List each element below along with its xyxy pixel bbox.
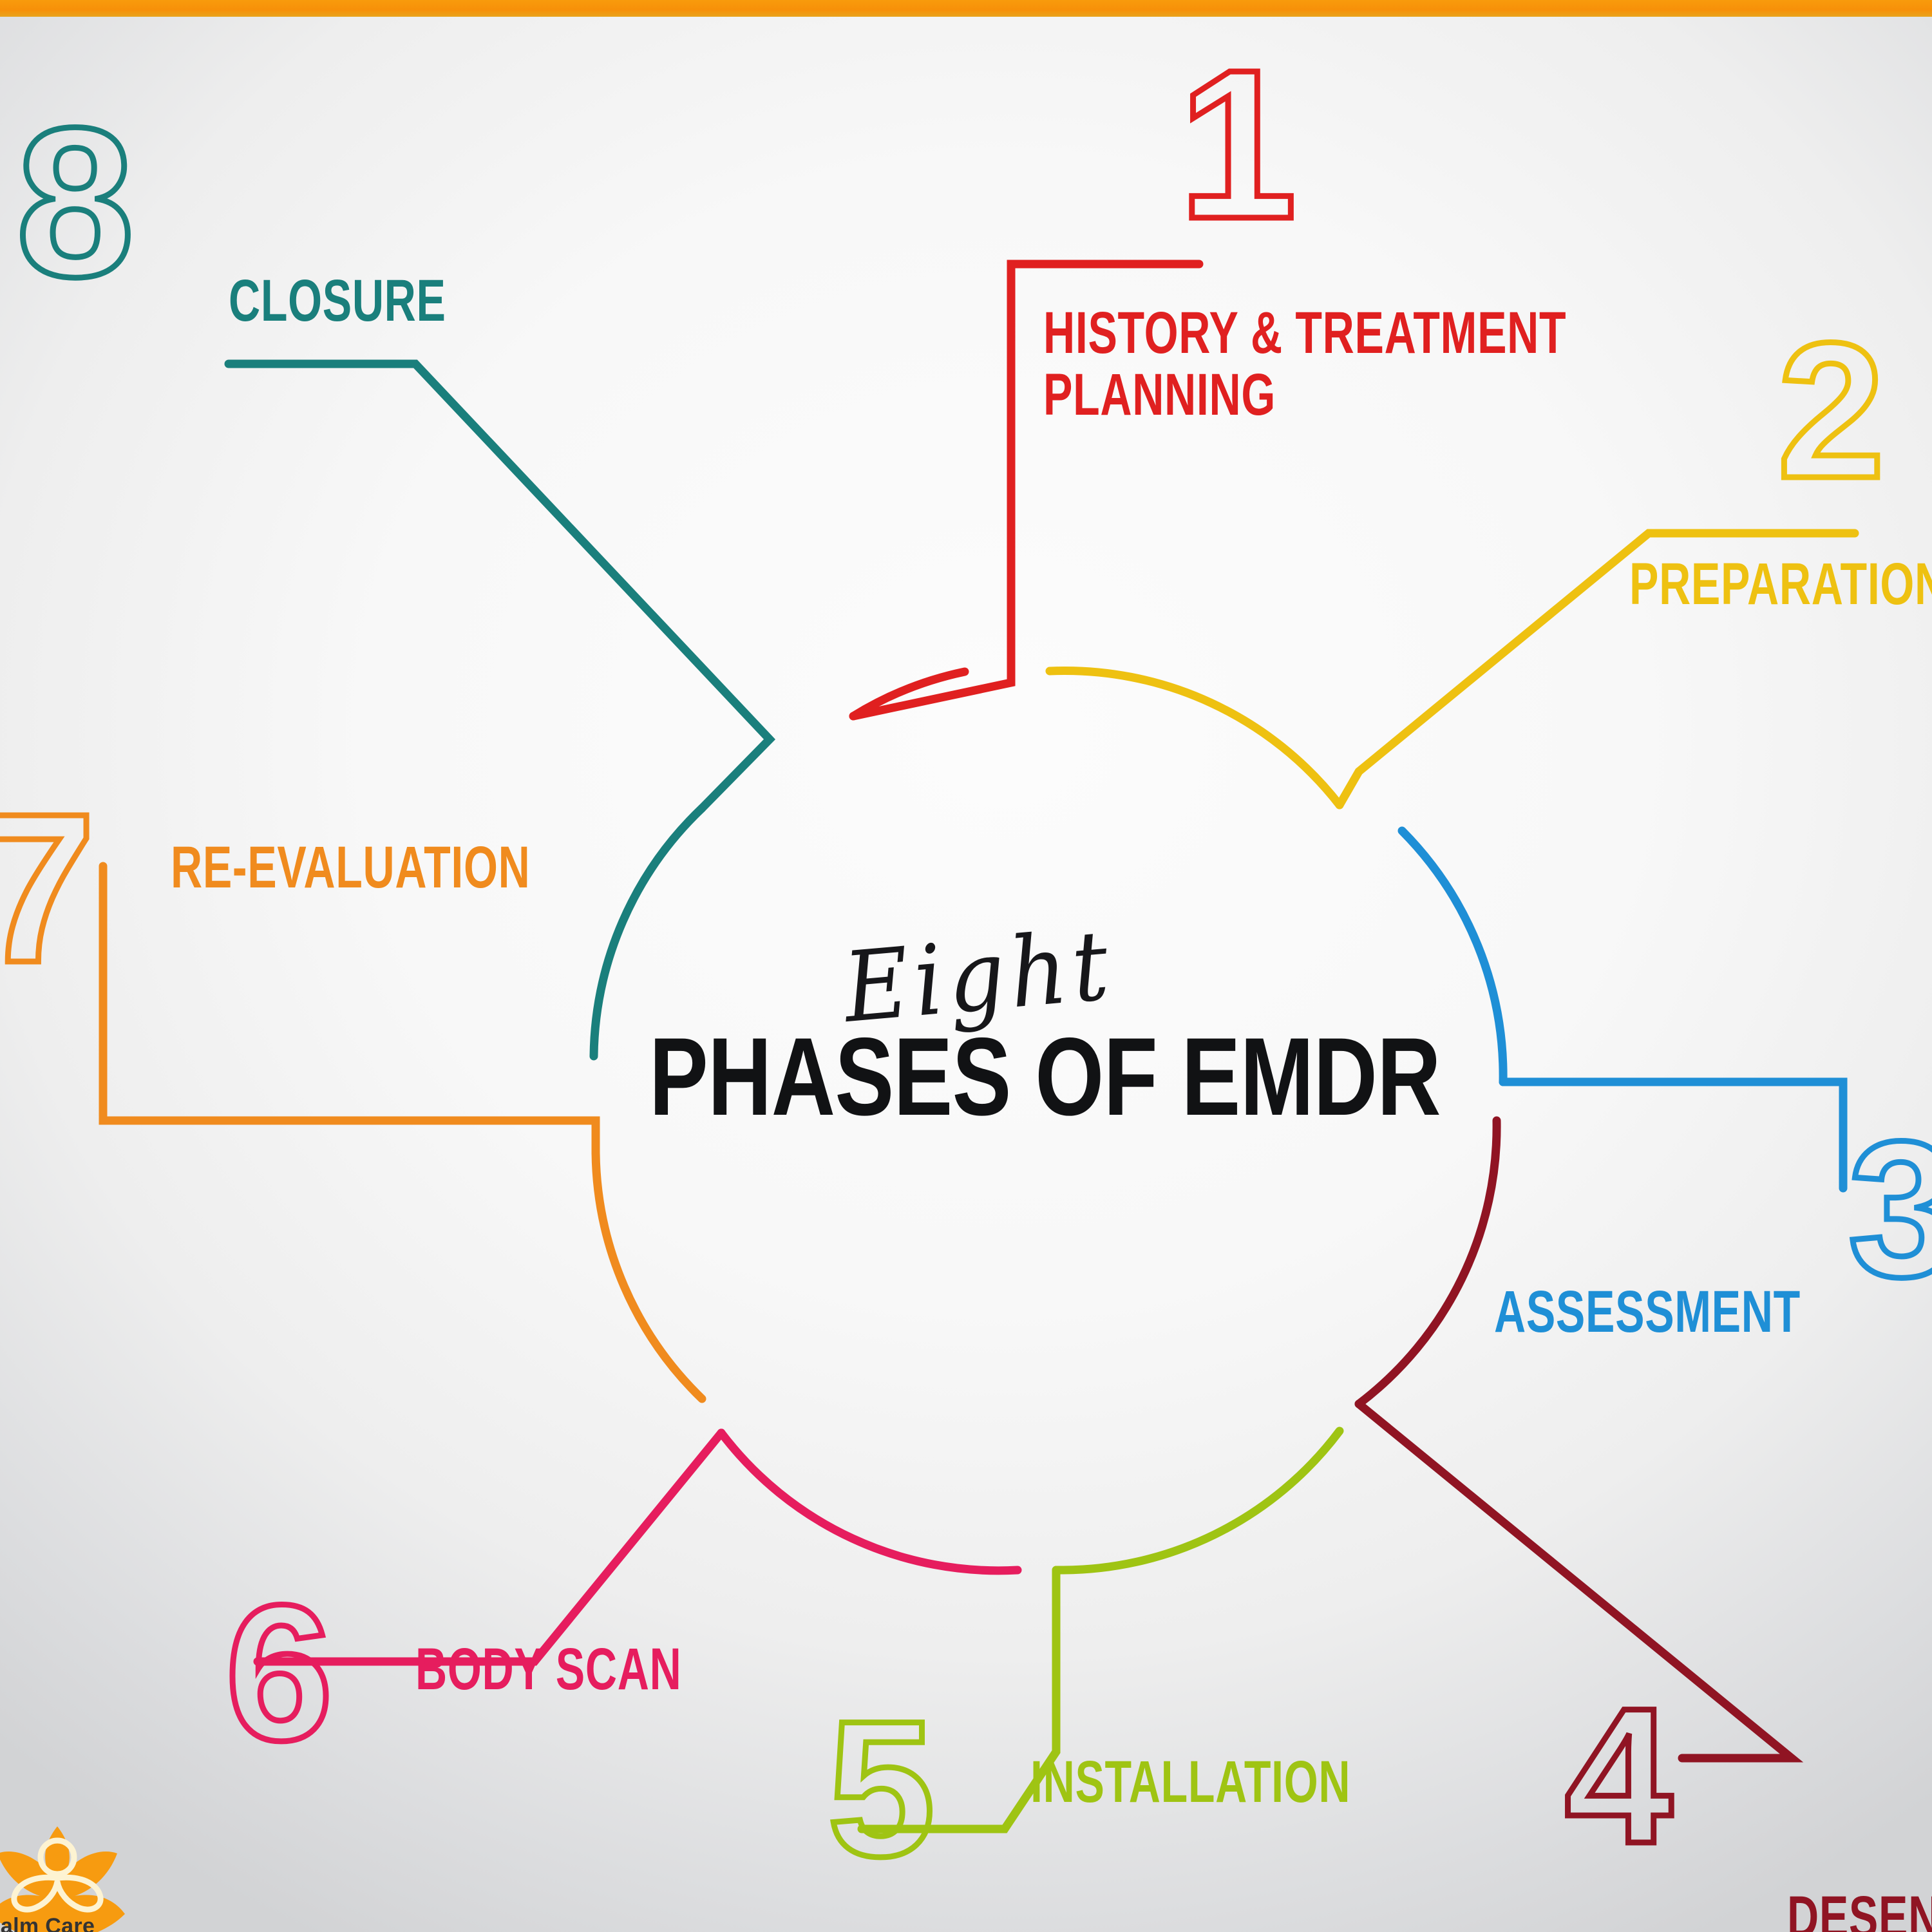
phase-4-numeral: 4: [1565, 1700, 1669, 1851]
phase-7-connector: [103, 866, 596, 1153]
phase-1-label: HISTORY & TREATMENTPLANNING: [1043, 303, 1566, 426]
phase-2-label: PREPARATION: [1629, 554, 1932, 616]
infographic-canvas: 1HISTORY & TREATMENTPLANNING2PREPARATION…: [0, 0, 1932, 1932]
phase-7-label: RE-EVALUATION: [171, 837, 531, 899]
phase-4-arc: [1359, 1121, 1497, 1404]
phase-2-numeral: 2: [1777, 335, 1881, 486]
phase-8-label: CLOSURE: [229, 270, 446, 332]
phase-label-line: CLOSURE: [229, 268, 446, 334]
phase-label-line: DESENSITIZATION: [1787, 1884, 1932, 1932]
phase-5-arc: [1056, 1431, 1340, 1570]
center-title-text: PHASES OF EMDR: [649, 1013, 1309, 1141]
phase-7-arc: [596, 1153, 702, 1399]
logo-wordmark: Calm Care: [0, 1914, 152, 1932]
phase-4-label: DESENSITIZATION: [1787, 1887, 1932, 1932]
phase-label-line: ASSESSMENT: [1494, 1279, 1801, 1345]
phase-3-label: ASSESSMENT: [1494, 1282, 1801, 1343]
phase-label-line: BODY SCAN: [415, 1636, 681, 1702]
phase-label-line: PLANNING: [1043, 362, 1276, 428]
phase-7-numeral: 7: [0, 805, 91, 971]
phase-5-numeral: 5: [828, 1713, 931, 1864]
phase-label-line: RE-EVALUATION: [171, 835, 531, 900]
phase-label-line: PREPARATION: [1629, 551, 1932, 617]
phase-5-label: INSTALLATION: [1030, 1752, 1350, 1814]
center-title-block: Eight PHASES OF EMDR: [567, 921, 1391, 1141]
phase-label-line: INSTALLATION: [1030, 1749, 1350, 1815]
phase-3-connector: [1503, 1082, 1843, 1188]
phase-6-arc: [721, 1433, 1018, 1571]
phase-2-arc: [1050, 670, 1340, 805]
phase-label-line: HISTORY & TREATMENT: [1043, 300, 1566, 366]
phase-6-numeral: 6: [225, 1597, 329, 1748]
phase-3-numeral: 3: [1848, 1133, 1932, 1284]
phase-8-numeral: 8: [16, 119, 130, 285]
phase-8-connector: [229, 364, 770, 808]
phase-1-numeral: 1: [1179, 61, 1293, 227]
phase-6-label: BODY SCAN: [415, 1639, 681, 1701]
